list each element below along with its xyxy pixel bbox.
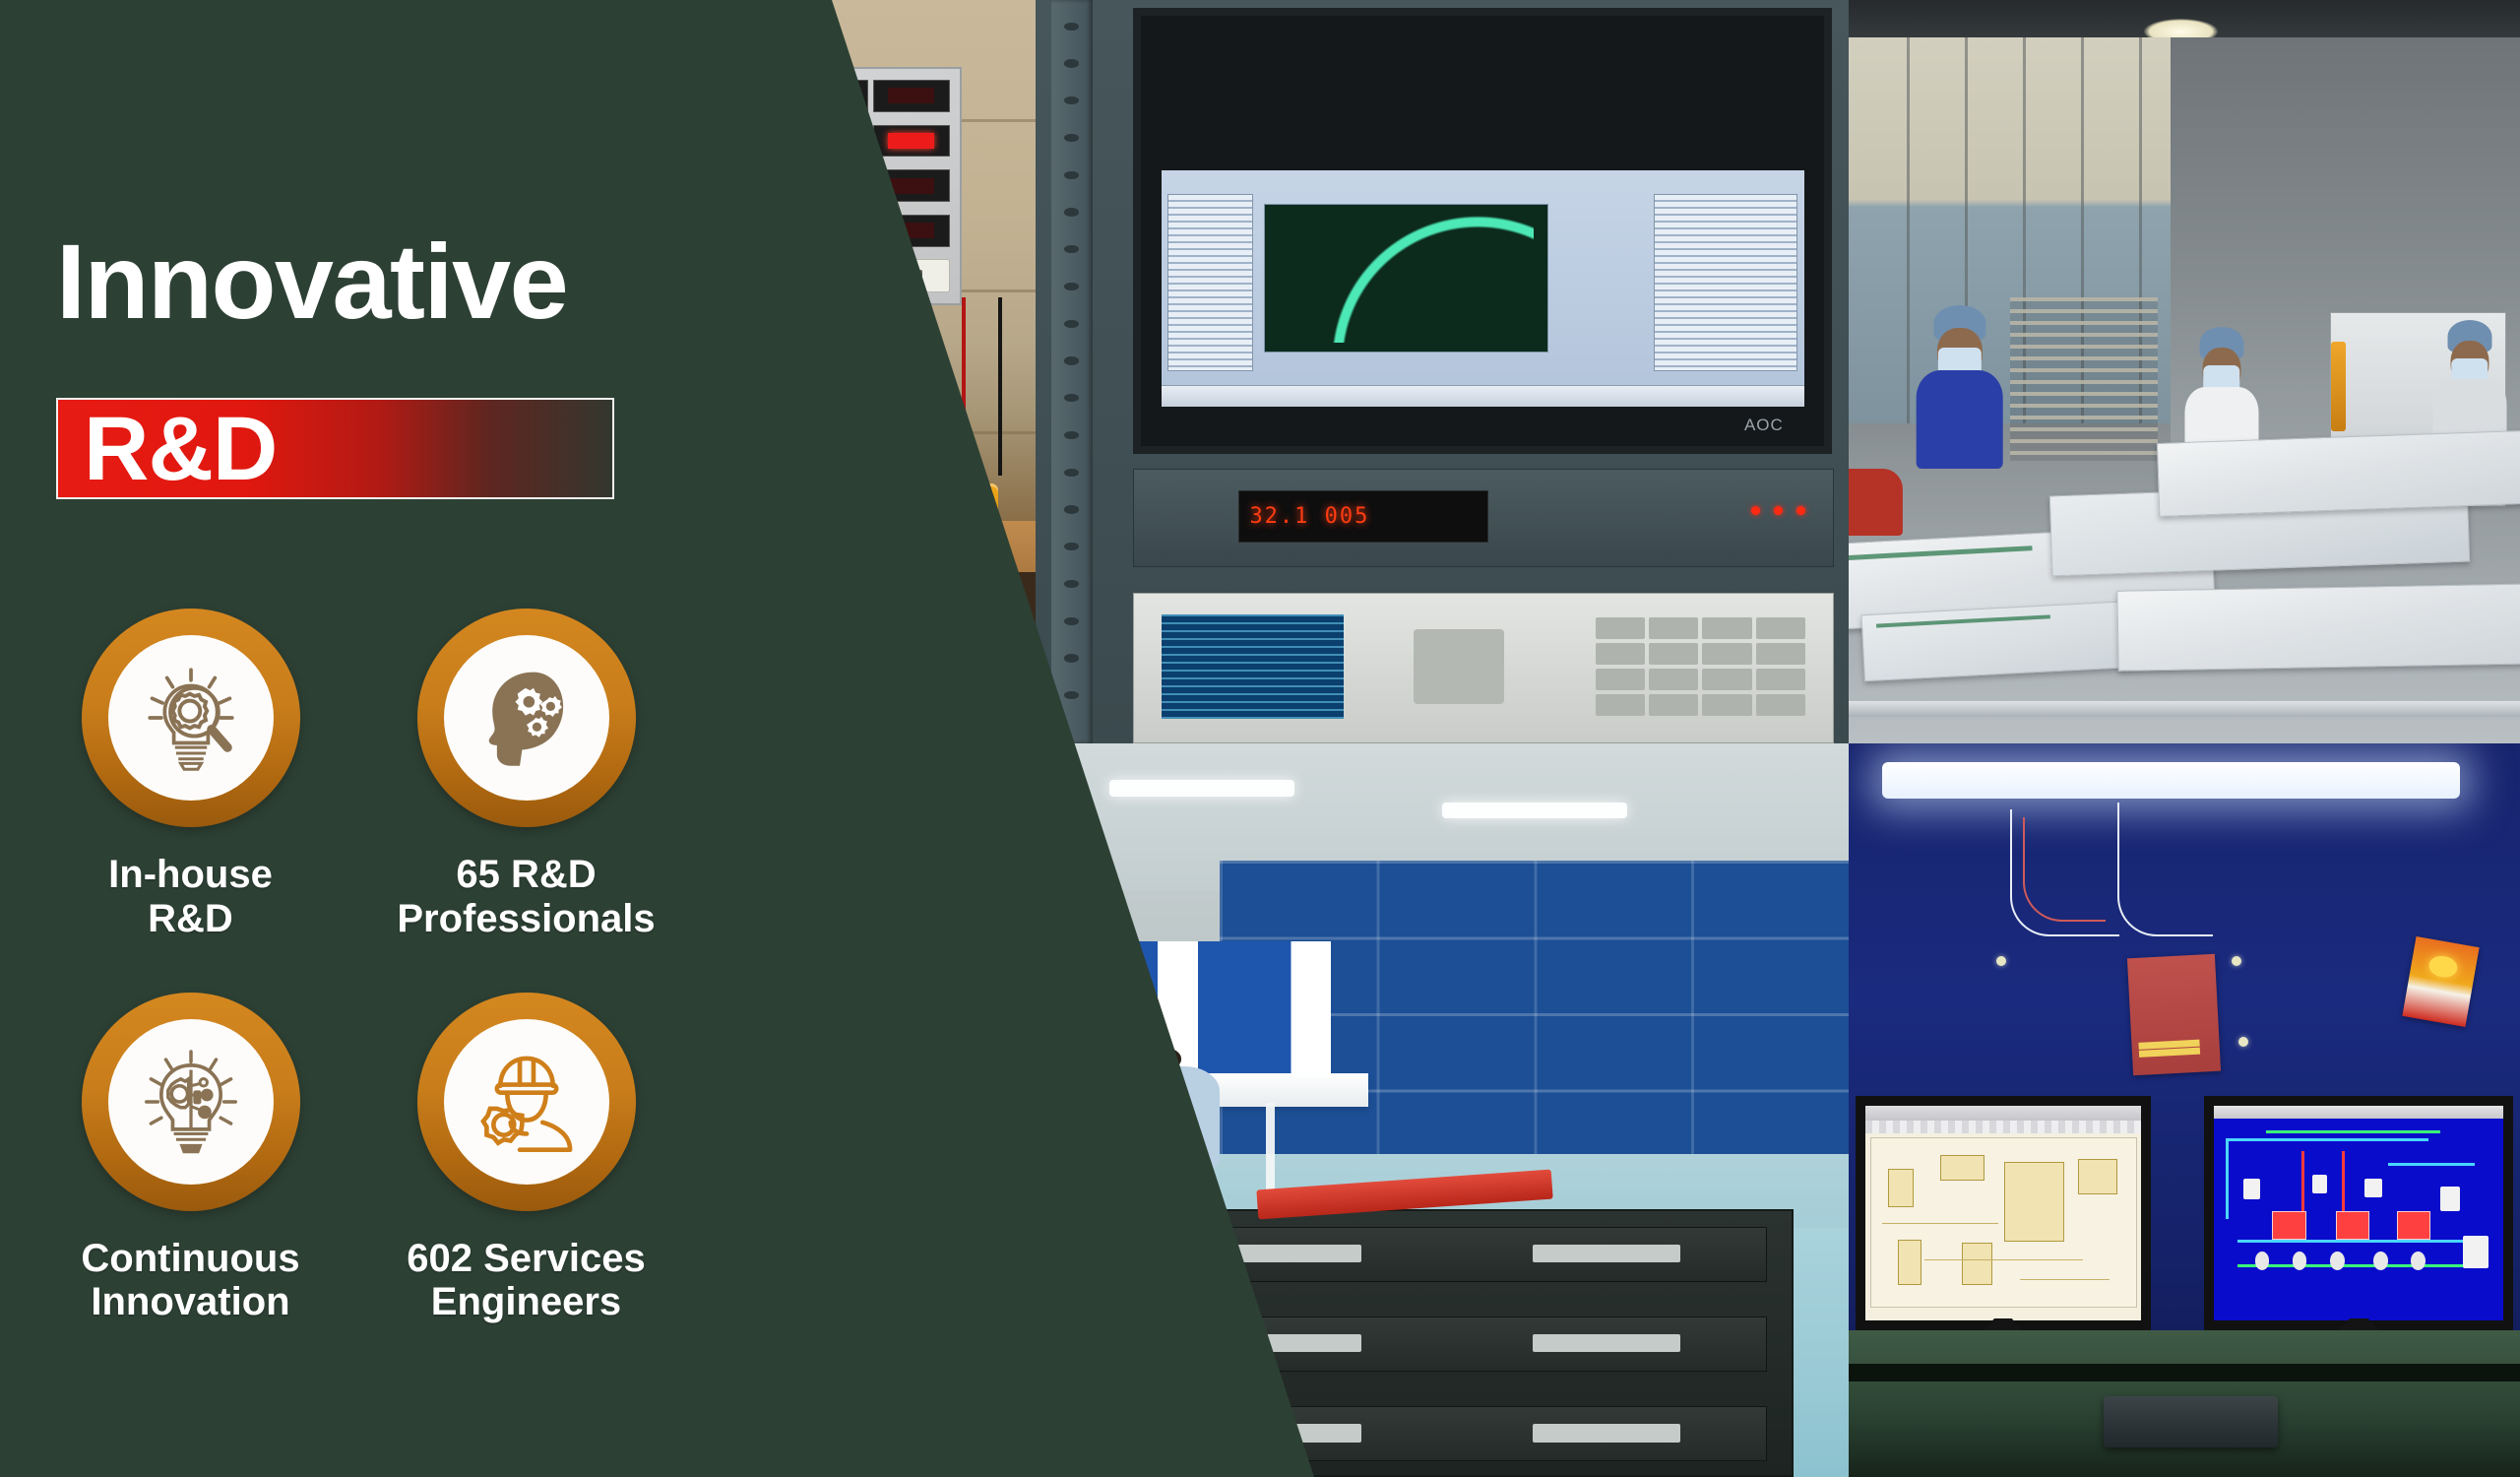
- rack-monitor: AOC: [1133, 8, 1833, 454]
- instrument-rack: AOC 32.1 005: [1036, 0, 1849, 743]
- feature-services-engineers[interactable]: 602 Services Engineers: [382, 993, 670, 1325]
- feature-badge: [82, 609, 300, 827]
- hardhat-worker-gear-icon: [470, 1045, 584, 1159]
- feature-label: 65 R&D Professionals: [397, 853, 655, 941]
- pcb-layout-monitor: [2204, 1096, 2513, 1330]
- pcb-design-workstation-photo: [1849, 743, 2520, 1477]
- orange-wall-sticker: [2403, 936, 2480, 1027]
- feature-grid: In-house R&D: [46, 609, 696, 1324]
- red-wall-sticker: [2127, 954, 2221, 1076]
- power-supply-unit: 32.1 005: [1133, 469, 1835, 567]
- head-gears-icon: [470, 661, 584, 775]
- monitor-brand-label: AOC: [1744, 416, 1784, 435]
- slide-canvas: AOC 32.1 005: [0, 0, 2520, 1477]
- fluorescent-tube-light: [1882, 762, 2460, 799]
- feature-label: 602 Services Engineers: [407, 1237, 645, 1325]
- content-column: Innovative R&D: [0, 0, 768, 1477]
- feature-badge: [417, 993, 636, 1211]
- lightbulb-gear-magnifier-icon: [134, 661, 248, 775]
- feature-badge: [417, 609, 636, 827]
- feature-continuous-innovation[interactable]: Continuous Innovation: [46, 993, 335, 1325]
- rd-highlight-banner: R&D: [56, 398, 614, 499]
- solar-panel-factory-photo: [1849, 0, 2520, 743]
- schematic-monitor: [1856, 1096, 2151, 1330]
- laptop-on-desk: [2104, 1396, 2278, 1447]
- signal-generator: [1133, 593, 1835, 743]
- psu-readout: 32.1 005: [1238, 490, 1488, 543]
- feature-in-house-rd[interactable]: In-house R&D: [46, 609, 335, 941]
- page-title: Innovative: [56, 228, 567, 335]
- lightbulb-circuit-gear-icon: [134, 1045, 248, 1159]
- feature-label: In-house R&D: [108, 853, 273, 941]
- feature-rd-professionals[interactable]: 65 R&D Professionals: [382, 609, 670, 941]
- feature-label: Continuous Innovation: [81, 1237, 299, 1325]
- rd-banner-label: R&D: [58, 404, 277, 494]
- feature-badge: [82, 993, 300, 1211]
